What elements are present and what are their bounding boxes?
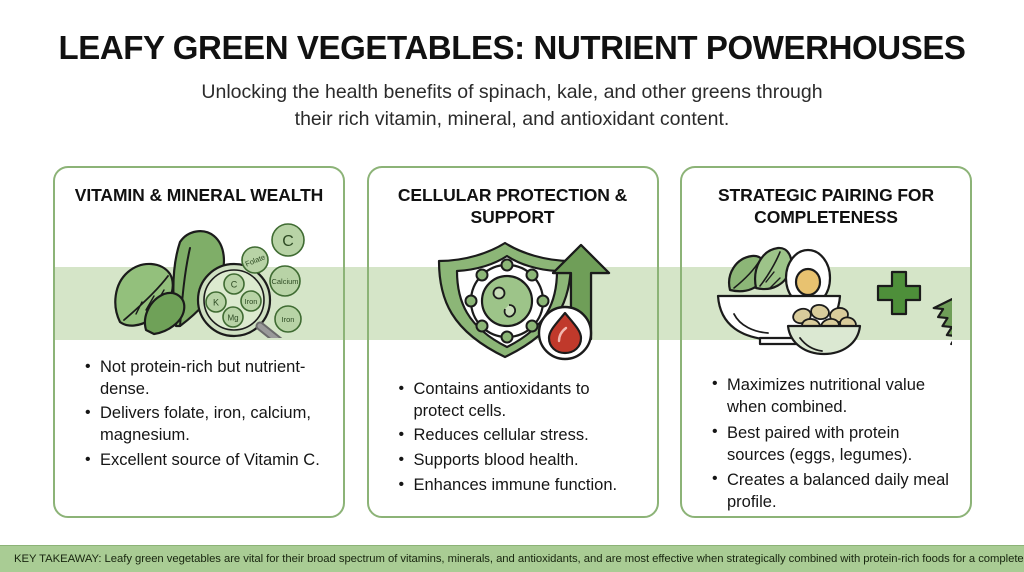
plus-sign-icon bbox=[878, 272, 920, 314]
card-bullet-list: Maximizes nutritional value when combine… bbox=[682, 374, 970, 516]
key-takeaway-banner: KEY TAKEAWAY: Leafy green vegetables are… bbox=[0, 545, 1024, 572]
list-item: Creates a balanced daily meal profile. bbox=[712, 469, 958, 513]
card-title: VITAMIN & MINERAL WEALTH bbox=[74, 185, 324, 207]
infographic-page: LEAFY GREEN VEGETABLES: NUTRIENT POWERHO… bbox=[0, 0, 1024, 572]
list-item: Excellent source of Vitamin C. bbox=[85, 450, 331, 472]
list-item: Delivers folate, iron, calcium, magnesiu… bbox=[85, 403, 331, 447]
list-item: Supports blood health. bbox=[399, 450, 645, 472]
lens-label-iron: Iron bbox=[245, 297, 258, 306]
page-title: LEAFY GREEN VEGETABLES: NUTRIENT POWERHO… bbox=[0, 30, 1024, 67]
bubble-label-iron: Iron bbox=[282, 315, 295, 324]
bubble-label-calcium: Calcium bbox=[271, 277, 298, 286]
list-item: Enhances immune function. bbox=[399, 475, 645, 497]
card-vitamin-mineral-wealth[interactable]: VITAMIN & MINERAL WEALTH bbox=[53, 166, 345, 518]
spinach-magnifier-nutrients-icon: C K Iron Mg C Folate bbox=[55, 213, 343, 343]
list-item: Reduces cellular stress. bbox=[399, 425, 645, 447]
subtitle-line-2: their rich vitamin, mineral, and antioxi… bbox=[132, 106, 892, 133]
lens-label-c: C bbox=[231, 279, 238, 289]
card-title: CELLULAR PROTECTION & SUPPORT bbox=[388, 185, 638, 229]
card-title: STRATEGIC PAIRING FOR COMPLETENESS bbox=[701, 185, 951, 229]
bubble-label-c: C bbox=[282, 233, 294, 250]
list-item: Best paired with protein sources (eggs, … bbox=[712, 422, 958, 466]
subtitle-line-1: Unlocking the health benefits of spinach… bbox=[132, 79, 892, 106]
lens-label-mg: Mg bbox=[227, 313, 238, 322]
key-takeaway-text: KEY TAKEAWAY: Leafy green vegetables are… bbox=[0, 553, 1024, 565]
page-subtitle: Unlocking the health benefits of spinach… bbox=[132, 79, 892, 133]
card-bullet-list: Not protein-rich but nutrient-dense. Del… bbox=[55, 357, 343, 475]
salad-legumes-protein-bar-icon: PLUS bbox=[682, 235, 970, 361]
shield-cell-arrow-blooddrop-icon bbox=[369, 235, 657, 365]
card-strategic-pairing[interactable]: STRATEGIC PAIRING FOR COMPLETENESS bbox=[680, 166, 972, 518]
cards-row: VITAMIN & MINERAL WEALTH bbox=[53, 166, 972, 518]
card-cellular-protection-support[interactable]: CELLULAR PROTECTION & SUPPORT bbox=[367, 166, 659, 518]
header: LEAFY GREEN VEGETABLES: NUTRIENT POWERHO… bbox=[0, 30, 1024, 133]
list-item: Maximizes nutritional value when combine… bbox=[712, 374, 958, 418]
card-bullet-list: Contains antioxidants to protect cells. … bbox=[369, 379, 657, 500]
list-item: Contains antioxidants to protect cells. bbox=[399, 379, 645, 423]
list-item: Not protein-rich but nutrient-dense. bbox=[85, 357, 331, 401]
lens-label-k: K bbox=[213, 297, 219, 307]
